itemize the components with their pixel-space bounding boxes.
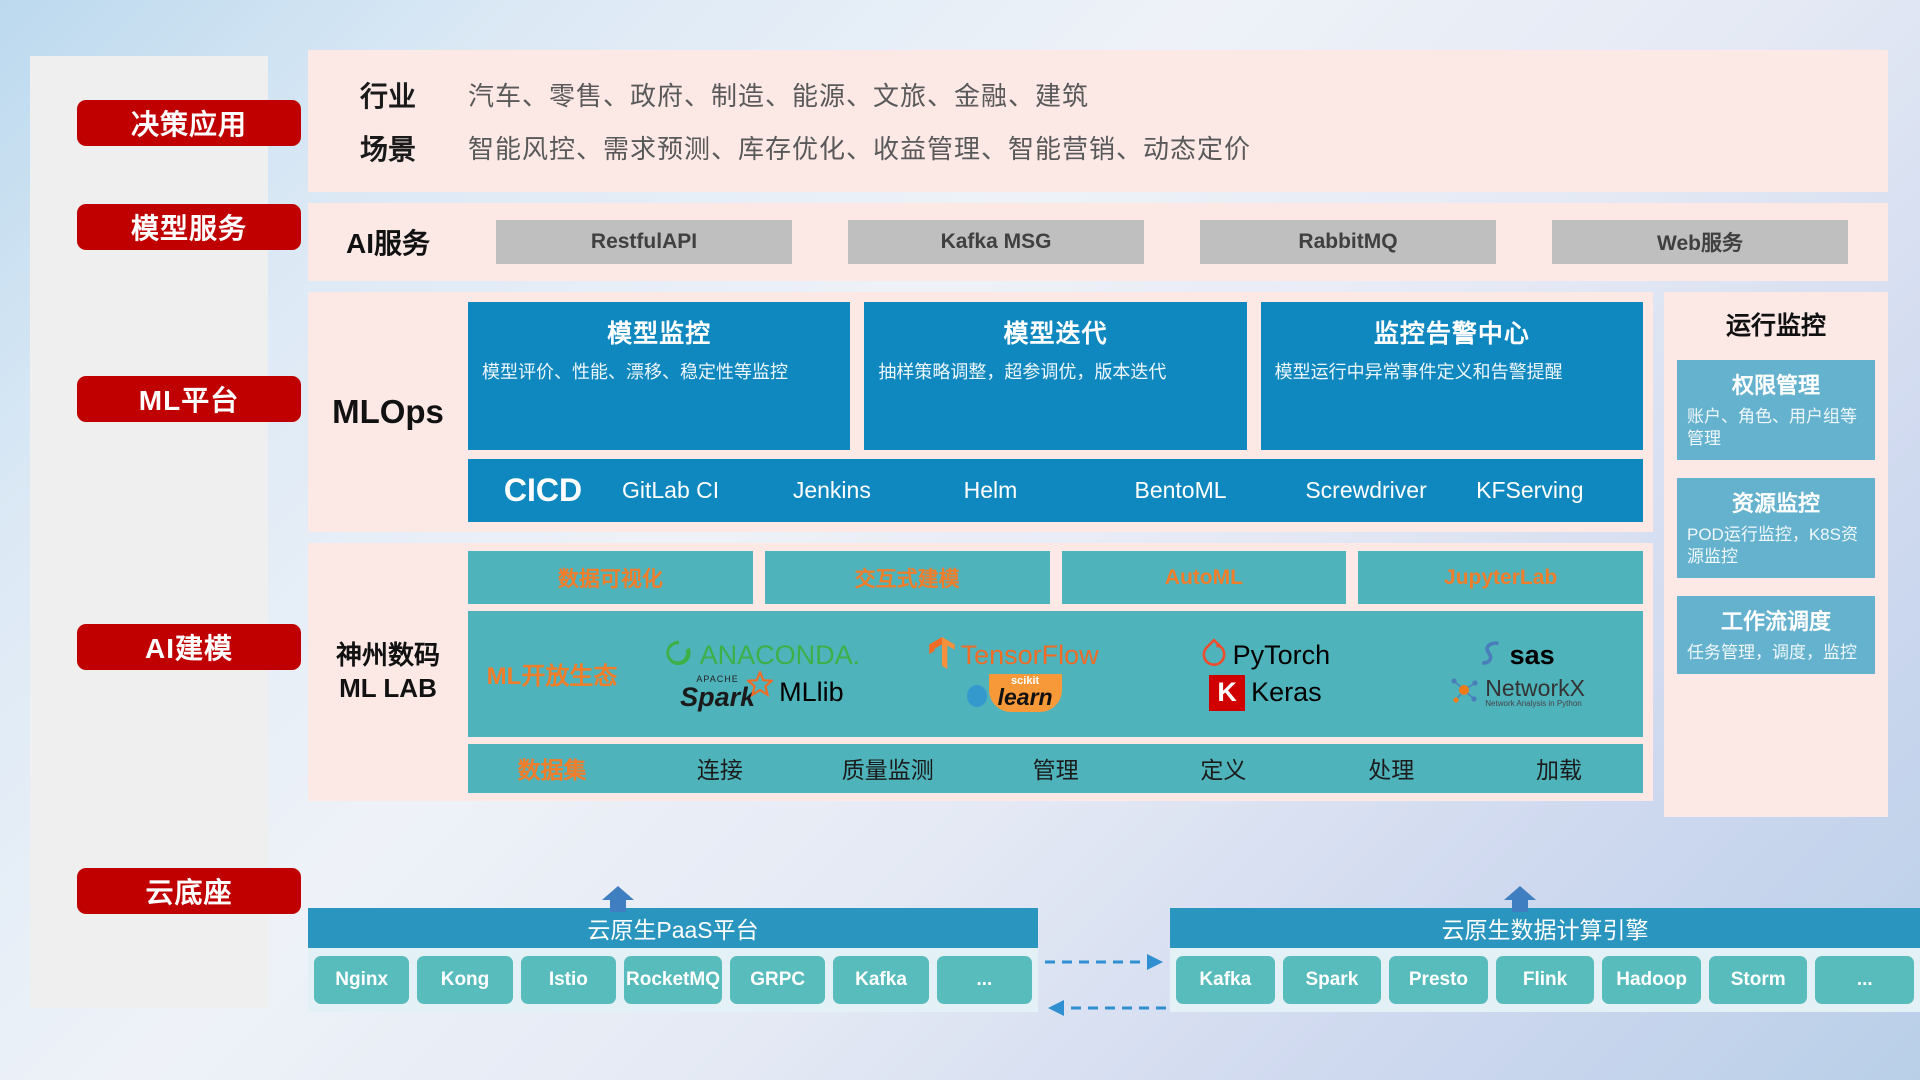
engine-chip-spark[interactable]: Spark [1283,956,1382,1004]
engine-chip-hadoop[interactable]: Hadoop [1602,956,1701,1004]
dataset-item-load[interactable]: 加载 [1475,751,1643,785]
bidirectional-flow-arrows [1043,950,1168,1020]
card-title: 模型迭代 [878,314,1232,350]
service-restfulapi[interactable]: RestfulAPI [496,220,792,264]
spark-wordmark: Spark [680,684,755,711]
ml-lab-content: 数据可视化 交互式建模 AutoML JupyterLab ML开放生态 ANA… [468,551,1653,793]
platform-middle: MLOps 模型监控 模型评价、性能、漂移、稳定性等监控 模型迭代 抽样策略调整… [308,292,1888,801]
mllib-wordmark: MLlib [779,677,844,708]
data-engine-title: 云原生数据计算引擎 [1170,908,1920,948]
monitor-card-desc: POD运行监控，K8S资源监控 [1687,524,1865,568]
runtime-monitor-title: 运行监控 [1677,306,1875,342]
dataset-row: 数据集 连接 质量监测 管理 定义 处理 加载 [468,744,1643,793]
monitor-card-title: 工作流调度 [1687,604,1865,636]
card-model-iteration[interactable]: 模型迭代 抽样策略调整，超参调优，版本迭代 [864,302,1246,450]
dataset-item-quality[interactable]: 质量监测 [804,751,972,785]
ai-service-items: RestfulAPI Kafka MSG RabbitMQ Web服务 [468,220,1888,264]
monitor-card-desc: 任务管理，调度，监控 [1687,642,1865,664]
dataset-item-connect[interactable]: 连接 [636,751,804,785]
mlops-cards: 模型监控 模型评价、性能、漂移、稳定性等监控 模型迭代 抽样策略调整，超参调优，… [468,302,1643,450]
paas-chip-nginx[interactable]: Nginx [314,956,409,1004]
industry-label: 行业 [308,75,468,115]
paas-chip-rocketmq[interactable]: RocketMQ [624,956,722,1004]
rail-item-decision-apps[interactable]: 决策应用 [77,100,301,146]
monitor-card-permissions[interactable]: 权限管理 账户、角色、用户组等管理 [1677,360,1875,460]
industry-row: 行业 汽车、零售、政府、制造、能源、文旅、金融、建筑 [308,68,1888,121]
rail-item-cloud-base[interactable]: 云底座 [77,868,301,914]
rail-item-ml-platform[interactable]: ML平台 [77,376,301,422]
cicd-item-jenkins[interactable]: Jenkins [789,478,960,502]
card-model-monitoring[interactable]: 模型监控 模型评价、性能、漂移、稳定性等监控 [468,302,850,450]
networkx-tagline: Network Analysis in Python [1485,700,1585,708]
pytorch-icon [1201,638,1227,673]
dataset-item-manage[interactable]: 管理 [972,751,1140,785]
scenario-label: 场景 [308,128,468,168]
monitor-card-title: 权限管理 [1687,368,1865,400]
dataset-item-define[interactable]: 定义 [1139,751,1307,785]
ai-service-label: AI服务 [308,222,468,262]
lab-tool-row: 数据可视化 交互式建模 AutoML JupyterLab [468,551,1643,604]
networkx-logo: NetworkX Network Analysis in Python [1449,675,1585,710]
engine-chip-kafka[interactable]: Kafka [1176,956,1275,1004]
cloud-base-section: 云原生PaaS平台 Nginx Kong Istio RocketMQ GRPC… [308,890,1920,1040]
monitor-card-title: 资源监控 [1687,486,1865,518]
paas-chip-grpc[interactable]: GRPC [730,956,825,1004]
card-desc: 抽样策略调整，超参调优，版本迭代 [878,360,1232,384]
service-kafka-msg[interactable]: Kafka MSG [848,220,1144,264]
cloud-data-engine-group: 云原生数据计算引擎 Kafka Spark Presto Flink Hadoo… [1170,908,1920,1012]
tool-data-visualization[interactable]: 数据可视化 [468,551,753,604]
sas-icon [1480,639,1504,672]
paas-chip-kong[interactable]: Kong [417,956,512,1004]
spark-mllib-logo: APACHE Spark MLlib [680,675,844,711]
scenario-row: 场景 智能风控、需求预测、库存优化、收益管理、智能营销、动态定价 [308,121,1888,174]
monitor-card-desc: 账户、角色、用户组等管理 [1687,406,1865,450]
service-rabbitmq[interactable]: RabbitMQ [1200,220,1496,264]
card-alert-center[interactable]: 监控告警中心 模型运行中异常事件定义和告警提醒 [1261,302,1643,450]
rail-item-ai-modeling[interactable]: AI建模 [77,624,301,670]
scikit-learn-logo: scikit learn [966,674,1062,712]
monitor-card-resources[interactable]: 资源监控 POD运行监控，K8S资源监控 [1677,478,1875,578]
pytorch-logo: PyTorch [1201,638,1331,673]
cicd-item-gitlab-ci[interactable]: GitLab CI [618,478,789,502]
paas-chip-istio[interactable]: Istio [521,956,616,1004]
data-engine-up-arrow-icon [1500,886,1540,912]
mlops-label: MLOps [308,302,468,522]
mlops-band: MLOps 模型监控 模型评价、性能、漂移、稳定性等监控 模型迭代 抽样策略调整… [308,292,1653,532]
ai-service-band: AI服务 RestfulAPI Kafka MSG RabbitMQ Web服务 [308,203,1888,281]
card-desc: 模型评价、性能、漂移、稳定性等监控 [482,360,836,384]
anaconda-wordmark: ANACONDA. [700,640,861,671]
engine-chip-more[interactable]: ... [1815,956,1914,1004]
dataset-item-process[interactable]: 处理 [1307,751,1475,785]
industry-values: 汽车、零售、政府、制造、能源、文旅、金融、建筑 [468,76,1089,113]
architecture-main: 行业 汽车、零售、政府、制造、能源、文旅、金融、建筑 场景 智能风控、需求预测、… [308,50,1888,812]
keras-letter: K [1217,677,1237,708]
scikit-learn-icon: scikit learn [966,674,1062,712]
tool-jupyterlab[interactable]: JupyterLab [1358,551,1643,604]
rail-item-model-service[interactable]: 模型服务 [77,204,301,250]
card-title: 监控告警中心 [1275,314,1629,350]
paas-chip-more[interactable]: ... [937,956,1032,1004]
learn-text: learn [998,687,1053,709]
runtime-monitor-panel: 运行监控 权限管理 账户、角色、用户组等管理 资源监控 POD运行监控，K8S资… [1664,292,1888,817]
paas-chip-kafka[interactable]: Kafka [833,956,928,1004]
cicd-item-helm[interactable]: Helm [960,478,1131,502]
ml-lab-band: 神州数码 ML LAB 数据可视化 交互式建模 AutoML JupyterLa… [308,543,1653,801]
cicd-title: CICD [468,472,618,509]
decision-apps-band: 行业 汽车、零售、政府、制造、能源、文旅、金融、建筑 场景 智能风控、需求预测、… [308,50,1888,192]
tool-automl[interactable]: AutoML [1062,551,1347,604]
pytorch-wordmark: PyTorch [1233,640,1331,671]
dataset-label: 数据集 [468,751,636,785]
tensorflow-icon [929,637,955,674]
card-title: 模型监控 [482,314,836,350]
networkx-wordmark: NetworkX [1485,677,1585,700]
card-desc: 模型运行中异常事件定义和告警提醒 [1275,360,1629,384]
sas-logo: sas [1480,639,1555,672]
networkx-icon [1449,675,1479,710]
monitor-card-workflow[interactable]: 工作流调度 任务管理，调度，监控 [1677,596,1875,674]
engine-chip-presto[interactable]: Presto [1389,956,1488,1004]
scenario-values: 智能风控、需求预测、库存优化、收益管理、智能营销、动态定价 [468,129,1251,166]
cicd-item-kfserving[interactable]: KFServing [1472,478,1643,502]
cicd-item-bentoml[interactable]: BentoML [1130,478,1301,502]
anaconda-icon [664,638,694,673]
sas-wordmark: sas [1510,640,1555,671]
keras-wordmark: Keras [1251,677,1322,708]
tool-interactive-modeling[interactable]: 交互式建模 [765,551,1050,604]
paas-chips: Nginx Kong Istio RocketMQ GRPC Kafka ... [308,948,1038,1012]
ml-lab-label: 神州数码 ML LAB [308,551,468,793]
cicd-bar: CICD GitLab CI Jenkins Helm BentoML Scre… [468,459,1643,522]
data-engine-chips: Kafka Spark Presto Flink Hadoop Storm ..… [1170,948,1920,1012]
mlops-content: 模型监控 模型评价、性能、漂移、稳定性等监控 模型迭代 抽样策略调整，超参调优，… [468,302,1653,522]
anaconda-logo: ANACONDA. [664,638,861,673]
keras-logo: K Keras [1209,675,1322,711]
ml-lab-label-line2: ML LAB [339,672,437,705]
stack-layer-rail: 决策应用 模型服务 ML平台 AI建模 云底座 [30,56,268,1008]
service-web[interactable]: Web服务 [1552,220,1848,264]
paas-title: 云原生PaaS平台 [308,908,1038,948]
spark-icon: APACHE Spark [680,675,773,711]
paas-up-arrow-icon [598,886,638,912]
cloud-paas-group: 云原生PaaS平台 Nginx Kong Istio RocketMQ GRPC… [308,908,1038,1012]
keras-icon: K [1209,675,1245,711]
ml-ecosystem-row: ML开放生态 ANACONDA. TensorFlo [468,611,1643,737]
ml-lab-label-line1: 神州数码 [336,639,440,672]
ml-ecosystem-logos: ANACONDA. TensorFlow PyT [636,636,1643,712]
tensorflow-logo: TensorFlow [929,637,1099,674]
engine-chip-storm[interactable]: Storm [1709,956,1808,1004]
cicd-item-screwdriver[interactable]: Screwdriver [1301,478,1472,502]
tensorflow-wordmark: TensorFlow [961,640,1099,671]
engine-chip-flink[interactable]: Flink [1496,956,1595,1004]
ml-ecosystem-label: ML开放生态 [468,656,636,691]
